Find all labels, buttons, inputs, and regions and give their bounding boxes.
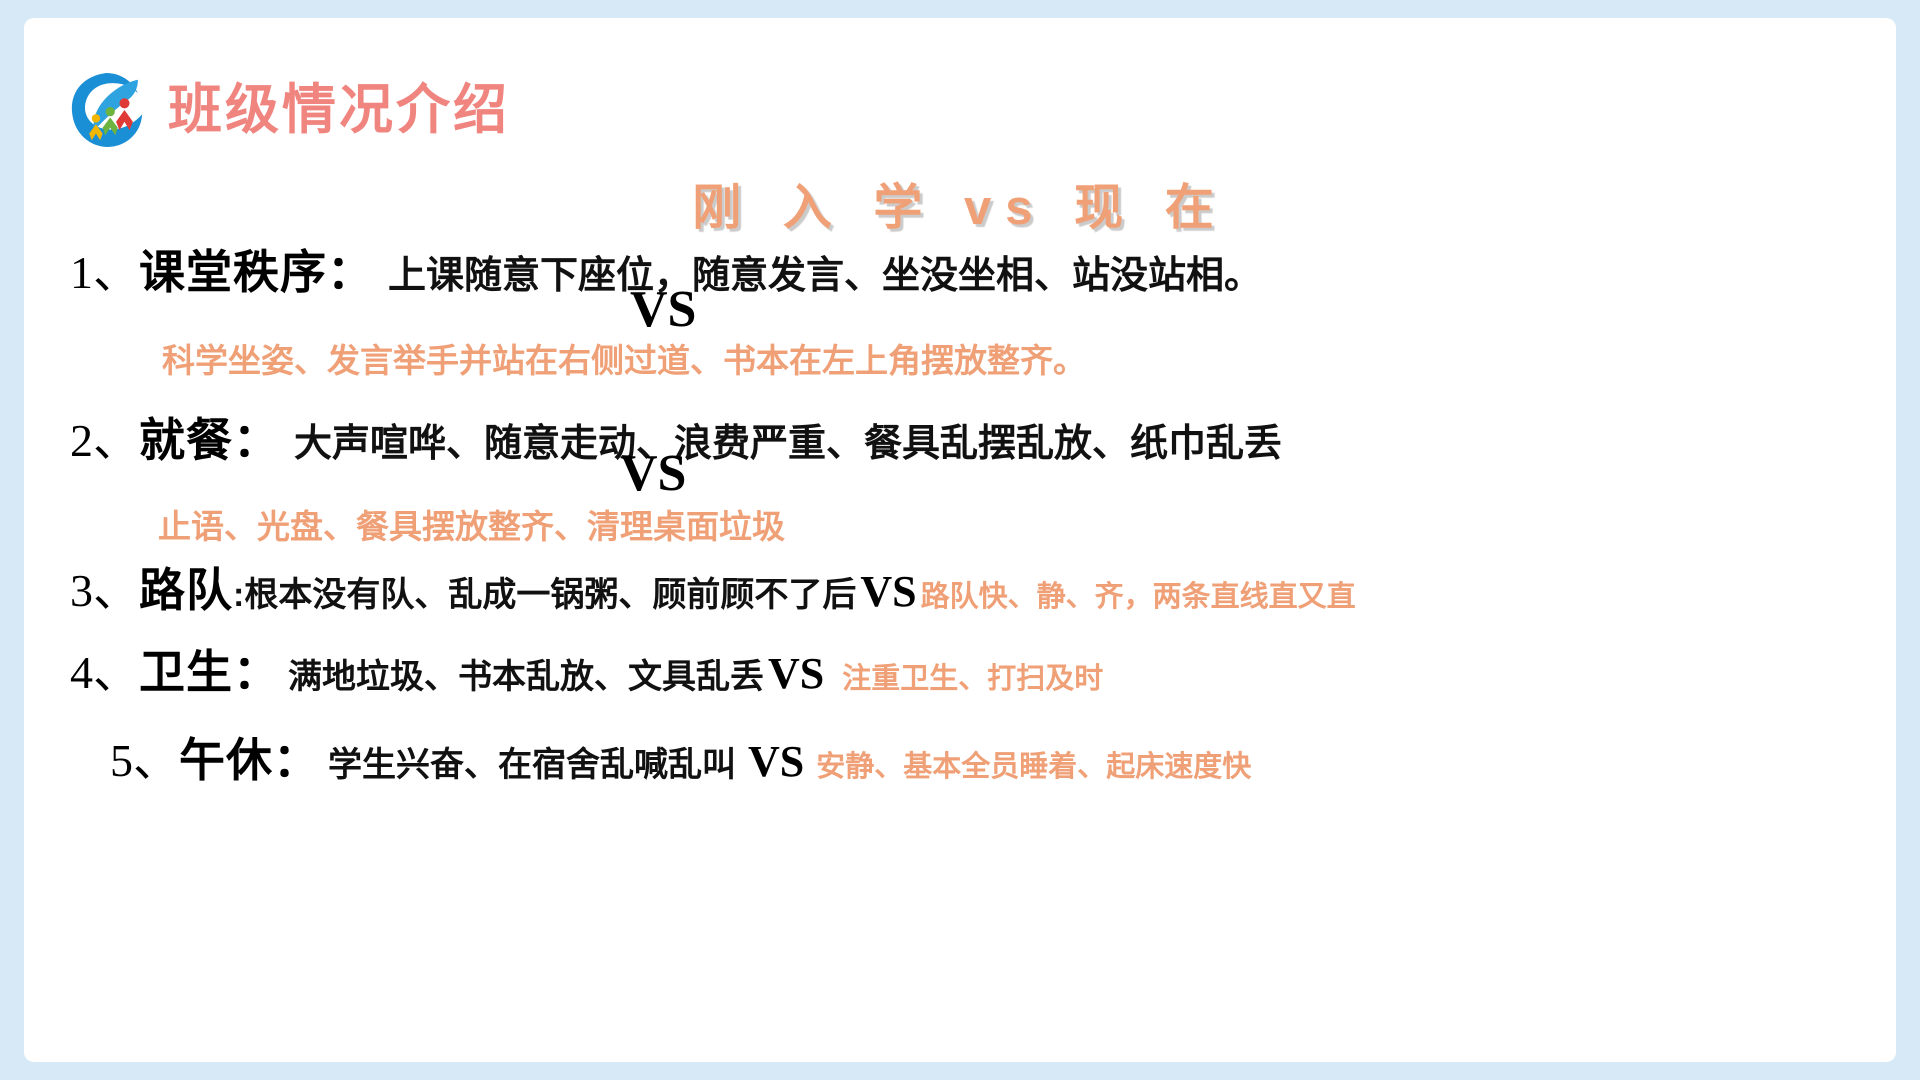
item-after-text: 止语、光盘、餐具摆放整齐、清理桌面垃圾 bbox=[158, 508, 785, 545]
slide-canvas: 班级情况介绍 刚 入 学 vs 现 在 1、 课堂秩序： 上课随意下座位，随意发… bbox=[24, 18, 1896, 1062]
item-category: 卫生： bbox=[139, 636, 280, 702]
item-after-row: 科学坐姿、发言举手并站在右侧过道、书本在左上角摆放整齐。 bbox=[162, 334, 1086, 382]
item-category: 就餐： bbox=[139, 404, 280, 470]
list-item: 2、 就餐： 大声喧哗、随意走动、浪费严重、餐具乱摆乱放、纸巾乱丢 VS 止语、… bbox=[70, 404, 1282, 470]
item-number: 1、 bbox=[70, 236, 139, 302]
item-after-text: 路队快、静、齐，两条直线直又直 bbox=[921, 573, 1356, 615]
school-logo-icon bbox=[64, 68, 148, 152]
item-category: 午休： bbox=[179, 724, 320, 790]
item-after-text: 安静、基本全员睡着、起床速度快 bbox=[816, 743, 1251, 785]
item-number: 5、 bbox=[110, 724, 179, 790]
slide-subtitle: 刚 入 学 vs 现 在 bbox=[24, 168, 1896, 239]
list-item: 4、 卫生： 满地垃圾、书本乱放、文具乱丢 VS 注重卫生、打扫及时 bbox=[70, 636, 1103, 702]
item-after-text: 科学坐姿、发言举手并站在右侧过道、书本在左上角摆放整齐。 bbox=[162, 342, 1086, 379]
vs-separator: VS bbox=[744, 736, 808, 787]
item-number: 3、 bbox=[70, 554, 139, 620]
item-category: 课堂秩序： bbox=[139, 236, 374, 302]
list-item: 3、 路队 :根本没有队、乱成一锅粥、顾前顾不了后 VS 路队快、静、齐，两条直… bbox=[70, 554, 1356, 620]
list-item: 1、 课堂秩序： 上课随意下座位，随意发言、坐没坐相、站没站相。 VS 科学坐姿… bbox=[70, 236, 1262, 302]
vs-separator: VS bbox=[620, 448, 686, 500]
item-category: 路队 bbox=[139, 554, 233, 620]
item-before-text: 大声喧哗、随意走动、浪费严重、餐具乱摆乱放、纸巾乱丢 bbox=[294, 412, 1282, 467]
item-after-row: 止语、光盘、餐具摆放整齐、清理桌面垃圾 bbox=[158, 500, 785, 548]
item-before-text: :根本没有队、乱成一锅粥、顾前顾不了后 bbox=[233, 567, 856, 616]
item-before-text: 学生兴奋、在宿舍乱喊乱叫 bbox=[328, 737, 736, 786]
item-before-text: 上课随意下座位，随意发言、坐没坐相、站没站相。 bbox=[388, 244, 1262, 299]
list-item: 5、 午休： 学生兴奋、在宿舍乱喊乱叫 VS 安静、基本全员睡着、起床速度快 bbox=[110, 724, 1251, 790]
item-number: 2、 bbox=[70, 404, 139, 470]
vs-separator: VS bbox=[856, 566, 920, 617]
item-number: 4、 bbox=[70, 636, 139, 702]
item-row: 5、 午休： 学生兴奋、在宿舍乱喊乱叫 VS 安静、基本全员睡着、起床速度快 bbox=[110, 724, 1251, 790]
slide-header: 班级情况介绍 bbox=[64, 68, 510, 152]
vs-separator: VS bbox=[630, 284, 696, 336]
item-row: 4、 卫生： 满地垃圾、书本乱放、文具乱丢 VS 注重卫生、打扫及时 bbox=[70, 636, 1103, 702]
item-row: 3、 路队 :根本没有队、乱成一锅粥、顾前顾不了后 VS 路队快、静、齐，两条直… bbox=[70, 554, 1356, 620]
item-before-text: 满地垃圾、书本乱放、文具乱丢 bbox=[288, 649, 764, 698]
item-after-text: 注重卫生、打扫及时 bbox=[842, 655, 1103, 697]
page-title: 班级情况介绍 bbox=[168, 83, 510, 137]
vs-separator: VS bbox=[764, 648, 828, 699]
